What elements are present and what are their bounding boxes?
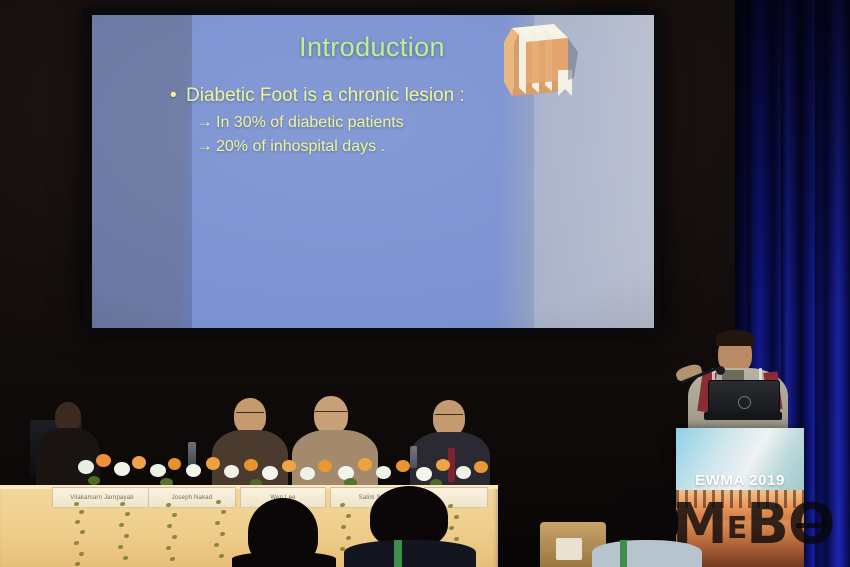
speaker-hair: [716, 330, 754, 346]
arrow-right-icon: →: [196, 136, 216, 156]
glasses-icon: [236, 412, 264, 417]
placard-name-text: Joseph Nakad: [172, 495, 213, 501]
name-placard: Vilakamarn Jarnpayab: [52, 487, 152, 508]
glasses-icon: [435, 414, 463, 419]
hp-logo-icon: [738, 396, 751, 409]
watermark-letter-e: E: [727, 514, 747, 544]
ivy-garland: [118, 498, 128, 567]
arrow-right-icon: →: [196, 112, 216, 132]
ivy-garland: [214, 498, 224, 567]
slide-bullet-secondary: →In 30% of diabetic patients: [196, 112, 600, 132]
slide-bullet-list: •Diabetic Foot is a chronic lesion : →In…: [170, 85, 600, 160]
slide-bullet-secondary: →20% of inhospital days .: [196, 136, 600, 156]
curtain-fold: [815, 0, 822, 567]
conference-photo-scene: Introduction •Diabetic Foot is a chronic…: [0, 0, 850, 567]
slide-title: Introduction: [222, 32, 522, 63]
bullet-dot-icon: •: [170, 85, 186, 107]
ivy-garland: [74, 500, 84, 567]
laptop-base: [704, 412, 782, 420]
slide-bullet-primary: •Diabetic Foot is a chronic lesion :: [170, 85, 600, 107]
watermark-letter-b: B: [746, 497, 788, 553]
podium-event-title: EWMA 2019: [676, 472, 804, 489]
projection-screen: Introduction •Diabetic Foot is a chronic…: [92, 15, 654, 328]
audience-lanyard: [394, 540, 402, 567]
screen-shadow-band: [92, 15, 192, 328]
watermark-letter-o: O: [788, 497, 835, 553]
glasses-icon: [315, 411, 347, 416]
mebo-watermark: MEBO: [672, 494, 850, 556]
microphone-icon: [716, 366, 725, 375]
ivy-garland: [166, 500, 176, 567]
audience-lanyard: [620, 540, 627, 567]
stage-bin-label: [556, 538, 582, 560]
